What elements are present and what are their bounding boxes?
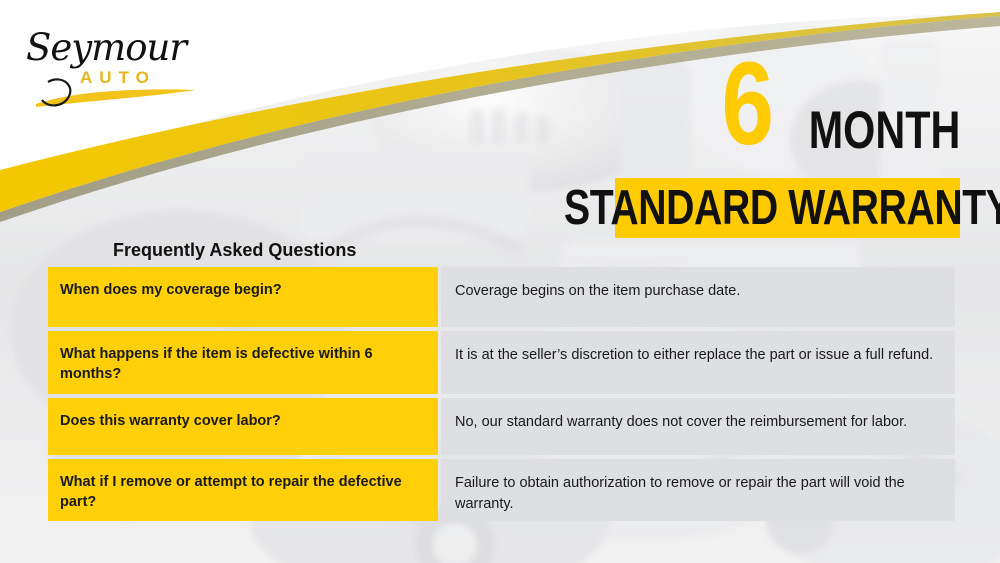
faq-answer: Failure to obtain authorization to remov… (441, 459, 955, 521)
table-row: Does this warranty cover labor? No, our … (48, 398, 955, 455)
logo-script-text: Seymour (26, 26, 186, 69)
faq-question: When does my coverage begin? (48, 267, 438, 327)
table-row: When does my coverage begin? Coverage be… (48, 267, 955, 327)
logo-swoosh-icon (18, 76, 208, 110)
standard-warranty-text: STANDARD WARRANTY (564, 184, 1000, 233)
warranty-headline: 6 MONTH STANDARD WARRANTY (600, 52, 960, 242)
faq-answer: Coverage begins on the item purchase dat… (441, 267, 955, 327)
faq-heading: Frequently Asked Questions (113, 240, 356, 261)
faq-question: What happens if the item is defective wi… (48, 331, 438, 394)
standard-warranty-banner: STANDARD WARRANTY (615, 178, 960, 238)
warranty-months-number: 6 (722, 52, 772, 156)
faq-question: Does this warranty cover labor? (48, 398, 438, 455)
faq-answer: No, our standard warranty does not cover… (441, 398, 955, 455)
warranty-month-label: MONTH (808, 104, 960, 157)
seymour-auto-logo: Seymour AUTO (18, 18, 208, 110)
table-row: What if I remove or attempt to repair th… (48, 459, 955, 521)
faq-question: What if I remove or attempt to repair th… (48, 459, 438, 521)
faq-answer: It is at the seller’s discretion to eith… (441, 331, 955, 394)
table-row: What happens if the item is defective wi… (48, 331, 955, 394)
faq-table: When does my coverage begin? Coverage be… (48, 267, 955, 521)
warranty-slide: Seymour AUTO 6 MONTH STANDARD WARRANTY F… (0, 0, 1000, 563)
